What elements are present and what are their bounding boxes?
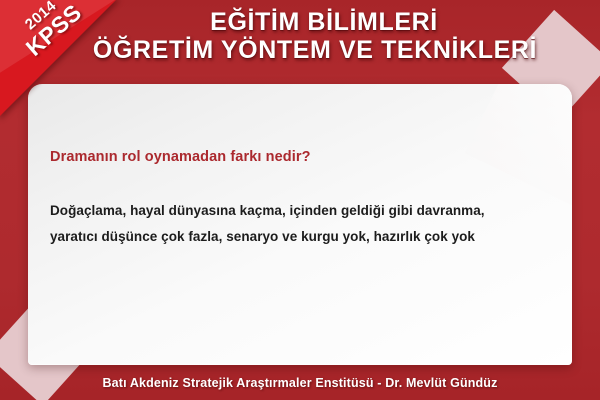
header-title-line2: ÖĞRETİM YÖNTEM VE TEKNİKLERİ bbox=[63, 36, 537, 65]
corner-ribbon: 2014 KPSS bbox=[0, 0, 128, 126]
slide-footer: Batı Akdeniz Stratejik Araştırmaler Enst… bbox=[0, 365, 600, 400]
answer-text: Doğaçlama, hayal dünyasına kaçma, içinde… bbox=[50, 198, 542, 250]
presentation-slide: EĞİTİM BİLİMLERİ ÖĞRETİM YÖNTEM VE TEKNİ… bbox=[0, 0, 600, 400]
answer-line-1: Doğaçlama, hayal dünyasına kaçma, içinde… bbox=[50, 198, 542, 224]
question-text: Dramanın rol oynamadan farkı nedir? bbox=[50, 147, 542, 167]
content-card: Dramanın rol oynamadan farkı nedir? Doğa… bbox=[28, 84, 572, 365]
header-title-line1: EĞİTİM BİLİMLERİ bbox=[162, 8, 438, 36]
footer-credit-text: Batı Akdeniz Stratejik Araştırmaler Enst… bbox=[102, 376, 497, 390]
answer-line-2: yaratıcı düşünce çok fazla, senaryo ve k… bbox=[50, 224, 542, 250]
